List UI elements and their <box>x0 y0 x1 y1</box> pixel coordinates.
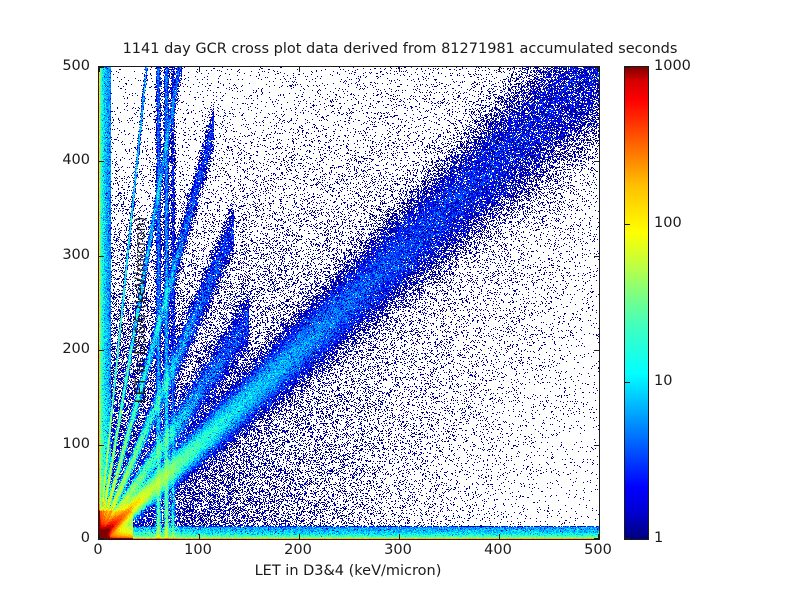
y-tick-label-0: 0 <box>46 530 90 546</box>
colorbar-label-10: 10 <box>654 373 672 389</box>
title-line-1: 1141 day GCR cross plot data derived fro… <box>0 41 800 59</box>
x-tick-top-300 <box>399 67 400 72</box>
x-tick-label-300: 300 <box>384 542 412 558</box>
y-tick-right-0 <box>594 538 599 539</box>
colorbar-tick-1 <box>625 538 630 539</box>
plot-area <box>98 66 600 540</box>
y-tick-label-500: 500 <box>46 58 90 74</box>
y-tick-label-200: 200 <box>46 341 90 357</box>
y-tick-label-100: 100 <box>46 436 90 452</box>
y-tick-right-100 <box>594 445 599 446</box>
colorbar <box>624 66 649 540</box>
x-axis-title: LET in D3&4 (keV/micron) <box>98 563 598 579</box>
x-tick-300 <box>399 534 400 539</box>
x-tick-top-200 <box>299 67 300 72</box>
colorbar-tick-100 <box>625 224 630 225</box>
x-tick-400 <box>499 534 500 539</box>
y-tick-right-300 <box>594 256 599 257</box>
colorbar-tick-1000 <box>625 67 630 68</box>
colorbar-label-100: 100 <box>654 215 682 231</box>
x-tick-top-400 <box>499 67 500 72</box>
y-axis-title: LET in D5&6 (keV/micron) <box>133 74 149 546</box>
colorbar-tick-10 <box>625 382 630 383</box>
x-tick-label-200: 200 <box>284 542 312 558</box>
x-tick-label-500: 500 <box>584 542 612 558</box>
x-tick-label-100: 100 <box>184 542 212 558</box>
colorbar-label-1000: 1000 <box>654 58 691 74</box>
y-tick-0 <box>99 538 104 539</box>
y-tick-500 <box>99 67 104 68</box>
y-tick-400 <box>99 161 104 162</box>
x-tick-200 <box>299 534 300 539</box>
x-tick-label-0: 0 <box>93 542 102 558</box>
y-tick-100 <box>99 445 104 446</box>
y-tick-right-400 <box>594 161 599 162</box>
colorbar-label-1: 1 <box>654 530 663 546</box>
x-tick-top-100 <box>199 67 200 72</box>
y-tick-right-500 <box>594 67 599 68</box>
chart-figure: 1141 day GCR cross plot data derived fro… <box>0 0 800 600</box>
y-tick-right-200 <box>594 350 599 351</box>
density-scatter-canvas <box>99 67 599 539</box>
y-tick-300 <box>99 256 104 257</box>
y-tick-label-300: 300 <box>46 247 90 263</box>
heatmap-layer <box>99 67 599 539</box>
y-tick-label-400: 400 <box>46 152 90 168</box>
x-tick-100 <box>199 534 200 539</box>
y-tick-200 <box>99 350 104 351</box>
x-tick-label-400: 400 <box>484 542 512 558</box>
